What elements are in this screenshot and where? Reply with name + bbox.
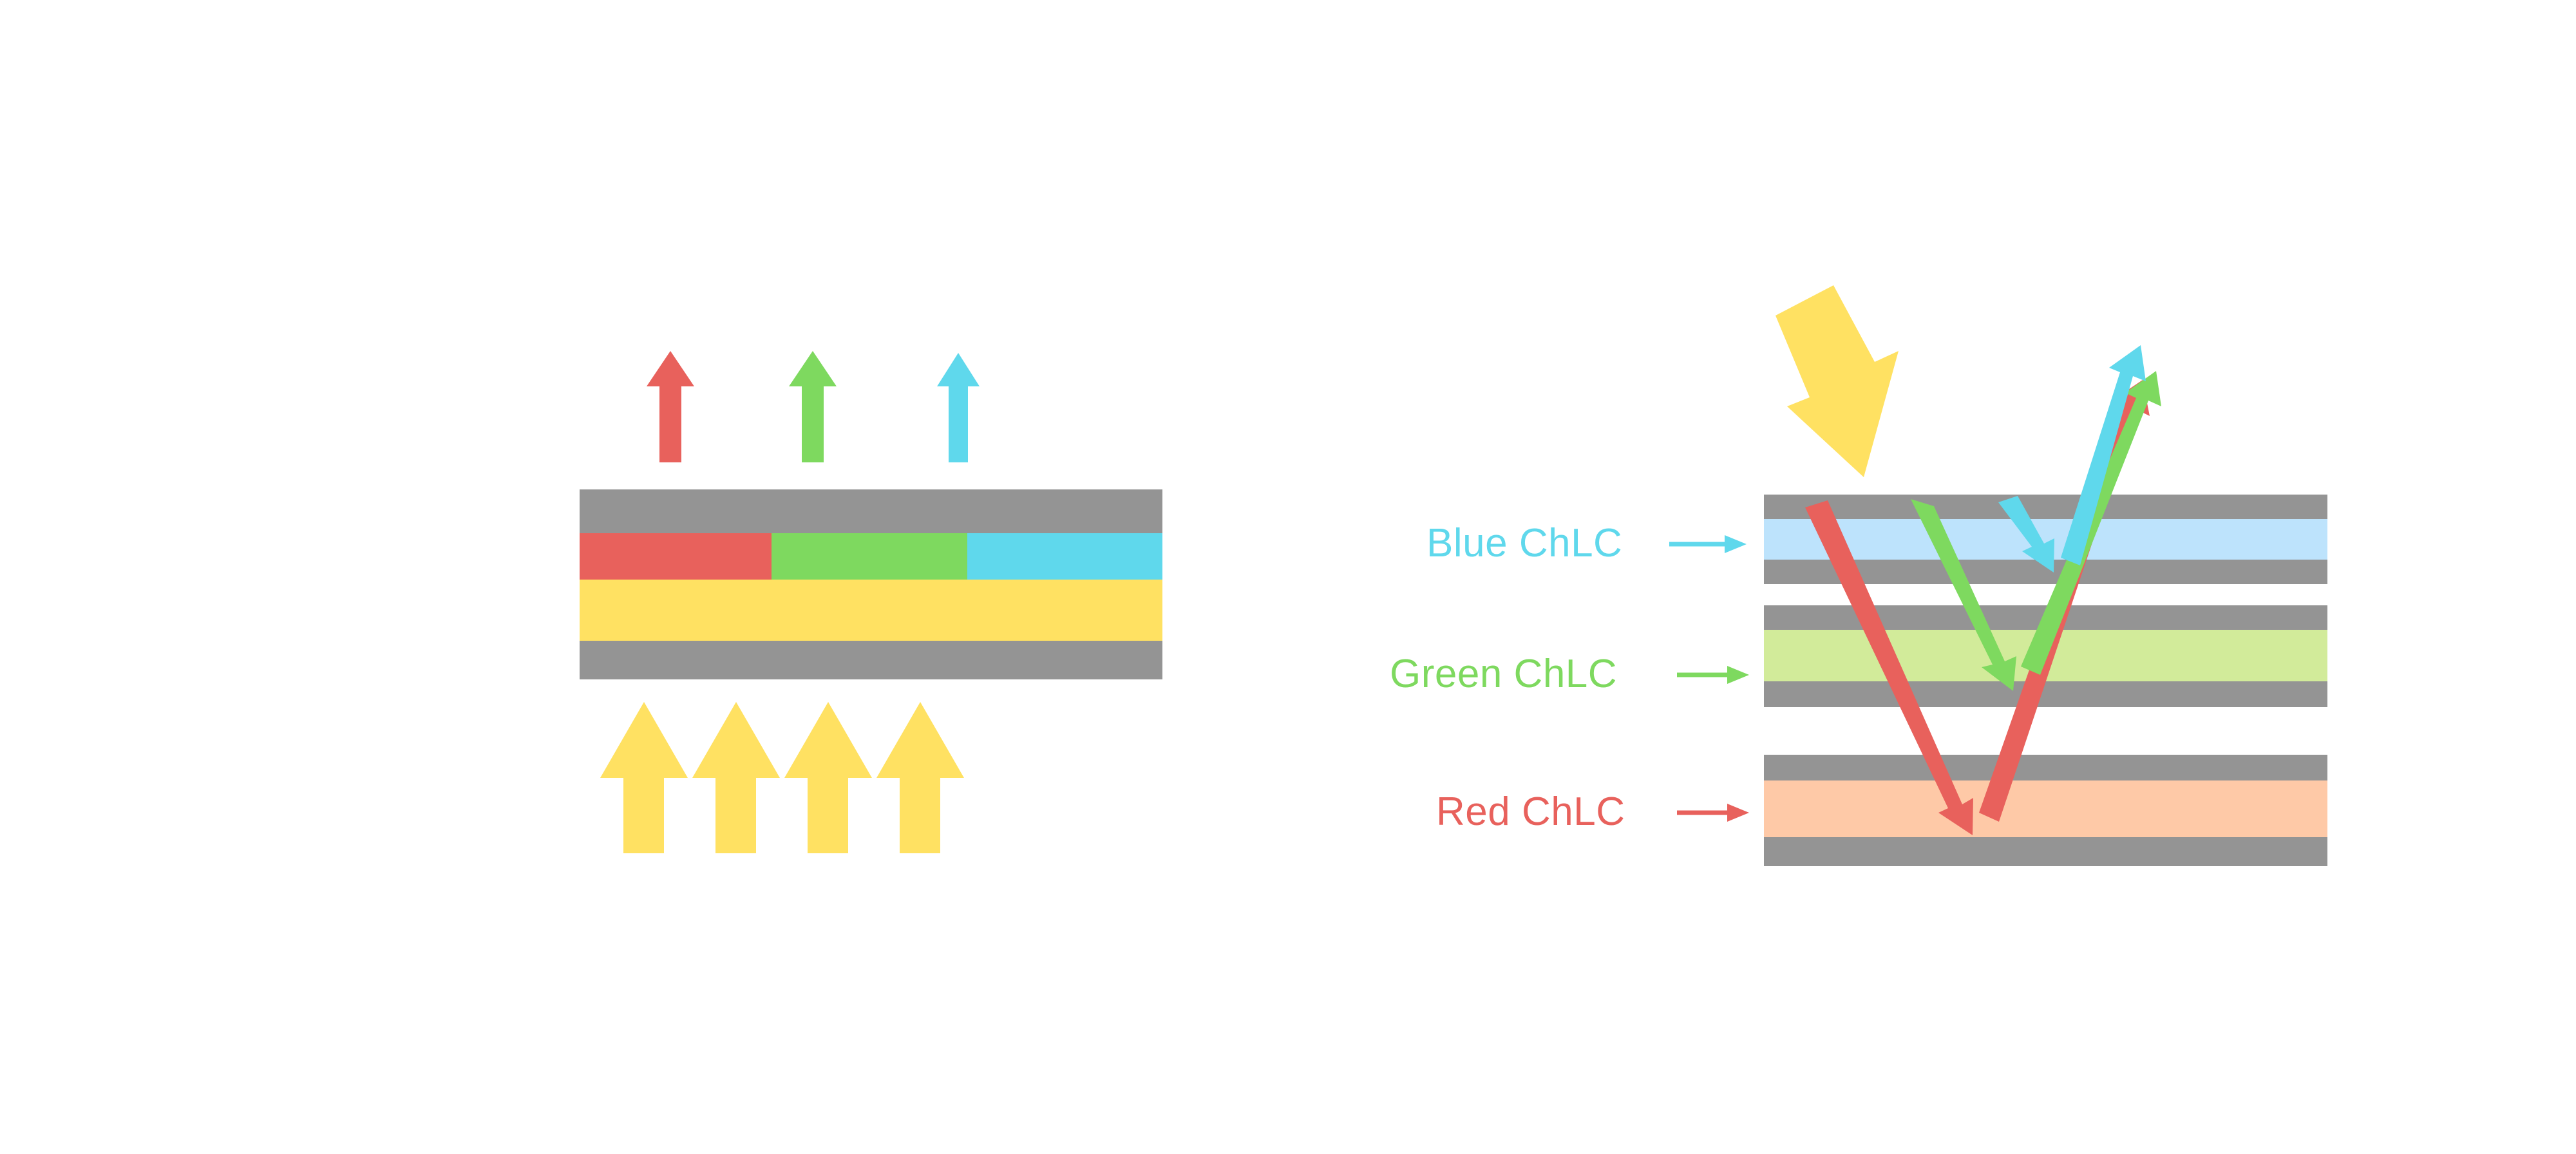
backlight-arrow-2: [692, 702, 780, 853]
red-filter-segment: [580, 533, 772, 580]
backlight-arrow-1: [600, 702, 688, 853]
red-chlc-layer: [1764, 780, 2327, 837]
reflective-stack-panel: [1669, 285, 2327, 866]
emitted-red-arrow: [647, 351, 694, 462]
red-cell-top-electrode: [1764, 755, 2327, 780]
blue-filter-segment: [967, 533, 1162, 580]
backlight-arrow-3: [784, 702, 872, 853]
green-chlc-label: Green ChLC: [1390, 654, 1617, 694]
blue-label-arrow-icon: [1669, 535, 1747, 553]
blue-chlc-label: Blue ChLC: [1426, 524, 1622, 563]
green-cell-bottom-electrode: [1764, 681, 2327, 707]
diagram-vector-layer: [0, 0, 2576, 1154]
green-label-arrow-icon: [1677, 666, 1749, 684]
yellow-backlight-layer: [580, 580, 1162, 641]
backlight-arrow-4: [876, 702, 964, 853]
emitted-green-arrow: [789, 351, 837, 462]
bottom-gray-electrode: [580, 641, 1162, 679]
red-label-arrow-icon: [1677, 804, 1749, 822]
top-gray-electrode: [580, 489, 1162, 533]
red-chlc-label: Red ChLC: [1436, 792, 1625, 832]
green-filter-segment: [772, 533, 967, 580]
blue-cell-top-electrode: [1764, 495, 2327, 519]
incident-light-arrow: [1776, 285, 1899, 477]
red-cell-bottom-electrode: [1764, 837, 2327, 866]
diagram-canvas: Blue ChLC Green ChLC Red ChLC: [0, 0, 2576, 1154]
emissive-stack-panel: [580, 351, 1162, 853]
emitted-cyan-arrow: [937, 353, 980, 462]
